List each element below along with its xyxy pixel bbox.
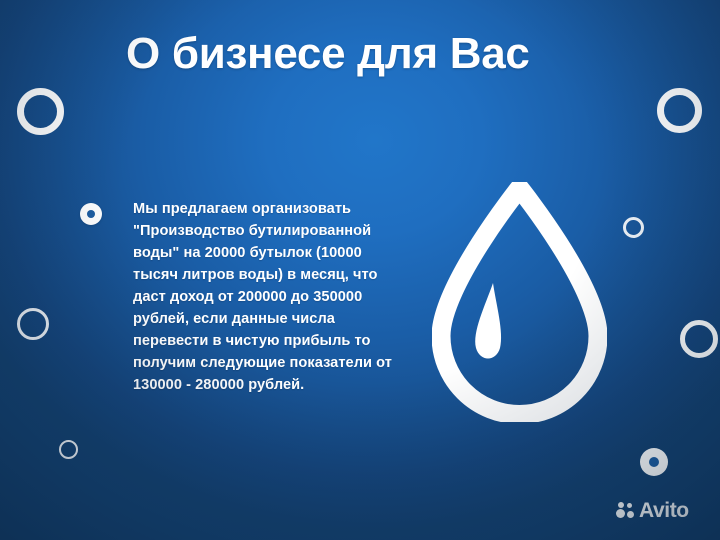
avito-watermark: Avito <box>616 500 689 521</box>
water-drop-icon <box>432 182 607 422</box>
decorative-ring-right-edge <box>680 320 718 358</box>
bullet-list-item: Мы предлагаем организовать "Производство… <box>80 198 400 396</box>
decorative-ring-bottom-left <box>59 440 78 459</box>
donut-bullet-icon <box>80 203 102 225</box>
page-title: О бизнесе для Вас <box>126 27 626 81</box>
body-paragraph: Мы предлагаем организовать "Производство… <box>133 198 400 396</box>
decorative-ring-top-left <box>17 88 64 135</box>
decorative-ring-top-right <box>657 88 702 133</box>
avito-wordmark: Avito <box>639 500 689 521</box>
decorative-ring-middle-left <box>17 308 49 340</box>
decorative-donut-bottom-right <box>640 448 668 476</box>
slide-canvas: О бизнесе для Вас Мы предлагаем организо… <box>0 0 720 540</box>
decorative-ring-middle-right <box>623 217 644 238</box>
avito-dots-icon <box>616 501 636 521</box>
